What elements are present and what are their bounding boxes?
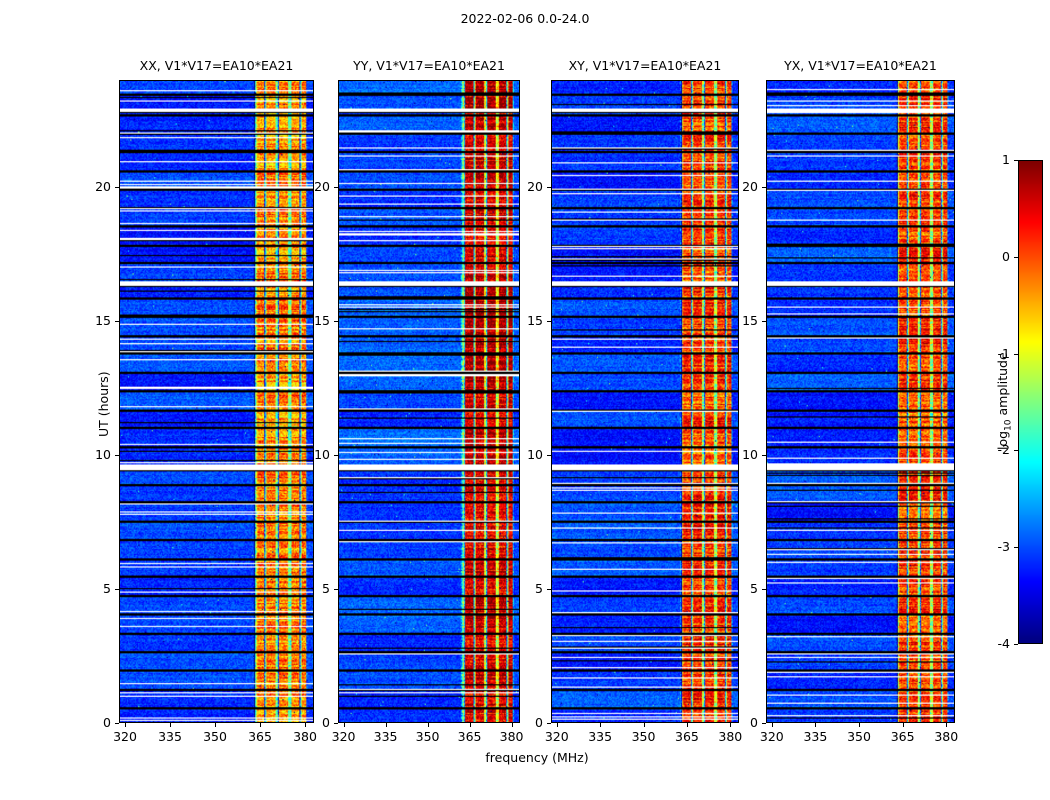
xtick-xx-1 (170, 723, 171, 727)
xtick-xx-0 (125, 723, 126, 727)
colorbar-tick-5 (1014, 160, 1018, 161)
colorbar-tick-1 (1014, 547, 1018, 548)
colorbar-tick-0 (1014, 644, 1018, 645)
yticklabel-xy-1: 5 (503, 581, 543, 596)
yticklabel-yx-4: 20 (718, 179, 758, 194)
waterfall-image-yx (767, 81, 954, 722)
xticklabel-yx-4: 380 (921, 729, 971, 744)
yticklabel-xx-2: 10 (71, 447, 111, 462)
yticklabel-xy-3: 15 (503, 313, 543, 328)
colorbar-ticklabel-4: 0 (966, 249, 1010, 264)
yticklabel-yy-1: 5 (290, 581, 330, 596)
waterfall-panel-xy (551, 80, 739, 723)
xticklabel-xx-0: 320 (100, 729, 150, 744)
xticklabel-yx-0: 320 (747, 729, 797, 744)
ytick-xy-0 (547, 723, 551, 724)
ytick-xx-0 (115, 723, 119, 724)
ytick-yy-4 (334, 187, 338, 188)
panel-title-yx: YX, V1*V17=EA10*EA21 (726, 58, 995, 73)
xticklabel-xx-1: 335 (145, 729, 195, 744)
xtick-xy-1 (600, 723, 601, 727)
yticklabel-yy-4: 20 (290, 179, 330, 194)
ytick-yx-3 (762, 321, 766, 322)
xtick-yy-3 (470, 723, 471, 727)
ytick-xy-3 (547, 321, 551, 322)
colorbar-ticklabel-1: -3 (966, 539, 1010, 554)
ytick-xy-2 (547, 455, 551, 456)
ytick-yx-4 (762, 187, 766, 188)
ytick-xx-1 (115, 589, 119, 590)
ytick-yx-2 (762, 455, 766, 456)
yticklabel-yx-0: 0 (718, 715, 758, 730)
xticklabel-xx-3: 365 (235, 729, 285, 744)
xtick-xy-0 (557, 723, 558, 727)
xtick-yy-1 (386, 723, 387, 727)
figure-canvas: 2022-02-06 0.0-24.0 XX, V1*V17=EA10*EA21… (0, 0, 1050, 800)
xtick-yy-2 (428, 723, 429, 727)
colorbar-label-main: log (995, 431, 1010, 450)
y-axis-label: UT (hours) (96, 371, 111, 437)
ytick-xx-3 (115, 321, 119, 322)
yticklabel-xy-2: 10 (503, 447, 543, 462)
xticklabel-xx-2: 350 (190, 729, 240, 744)
colorbar-label: log10 amplitude (995, 352, 1014, 450)
colorbar-tick-4 (1014, 257, 1018, 258)
yticklabel-yx-1: 5 (718, 581, 758, 596)
ytick-xx-2 (115, 455, 119, 456)
xtick-xy-3 (687, 723, 688, 727)
x-axis-label: frequency (MHz) (119, 750, 955, 765)
xtick-yx-0 (772, 723, 773, 727)
xtick-yx-2 (859, 723, 860, 727)
colorbar-tick-3 (1014, 354, 1018, 355)
waterfall-image-xy (552, 81, 738, 722)
yticklabel-yy-0: 0 (290, 715, 330, 730)
yticklabel-xy-0: 0 (503, 715, 543, 730)
yticklabel-yx-2: 10 (718, 447, 758, 462)
waterfall-image-yy (339, 81, 519, 722)
waterfall-panel-yy (338, 80, 520, 723)
xticklabel-yy-4: 380 (487, 729, 537, 744)
yticklabel-xx-0: 0 (71, 715, 111, 730)
xticklabel-yx-1: 335 (790, 729, 840, 744)
ytick-yy-0 (334, 723, 338, 724)
waterfall-image-xx (120, 81, 313, 722)
yticklabel-yy-3: 15 (290, 313, 330, 328)
xtick-xx-3 (260, 723, 261, 727)
xtick-yx-3 (903, 723, 904, 727)
colorbar-label-tail: amplitude (995, 352, 1010, 419)
yticklabel-xx-3: 15 (71, 313, 111, 328)
yticklabel-xy-4: 20 (503, 179, 543, 194)
yticklabel-xx-4: 20 (71, 179, 111, 194)
yticklabel-yx-3: 15 (718, 313, 758, 328)
yticklabel-yy-2: 10 (290, 447, 330, 462)
colorbar-ticklabel-0: -4 (966, 636, 1010, 651)
yticklabel-xx-1: 5 (71, 581, 111, 596)
ytick-yy-2 (334, 455, 338, 456)
figure-title: 2022-02-06 0.0-24.0 (0, 11, 1050, 26)
colorbar (1018, 160, 1043, 644)
ytick-xx-4 (115, 187, 119, 188)
waterfall-panel-yx (766, 80, 955, 723)
xtick-yy-0 (344, 723, 345, 727)
xticklabel-yx-3: 365 (878, 729, 928, 744)
colorbar-ticklabel-5: 1 (966, 152, 1010, 167)
ytick-yx-0 (762, 723, 766, 724)
xtick-xy-2 (644, 723, 645, 727)
xticklabel-yx-2: 350 (834, 729, 884, 744)
colorbar-label-subscript: 10 (1004, 419, 1014, 430)
xtick-yx-1 (815, 723, 816, 727)
colorbar-gradient (1019, 161, 1042, 643)
ytick-yy-3 (334, 321, 338, 322)
ytick-yx-1 (762, 589, 766, 590)
ytick-yy-1 (334, 589, 338, 590)
waterfall-panel-xx (119, 80, 314, 723)
xtick-yx-4 (946, 723, 947, 727)
ytick-xy-4 (547, 187, 551, 188)
ytick-xy-1 (547, 589, 551, 590)
colorbar-tick-2 (1014, 450, 1018, 451)
xtick-xx-2 (215, 723, 216, 727)
